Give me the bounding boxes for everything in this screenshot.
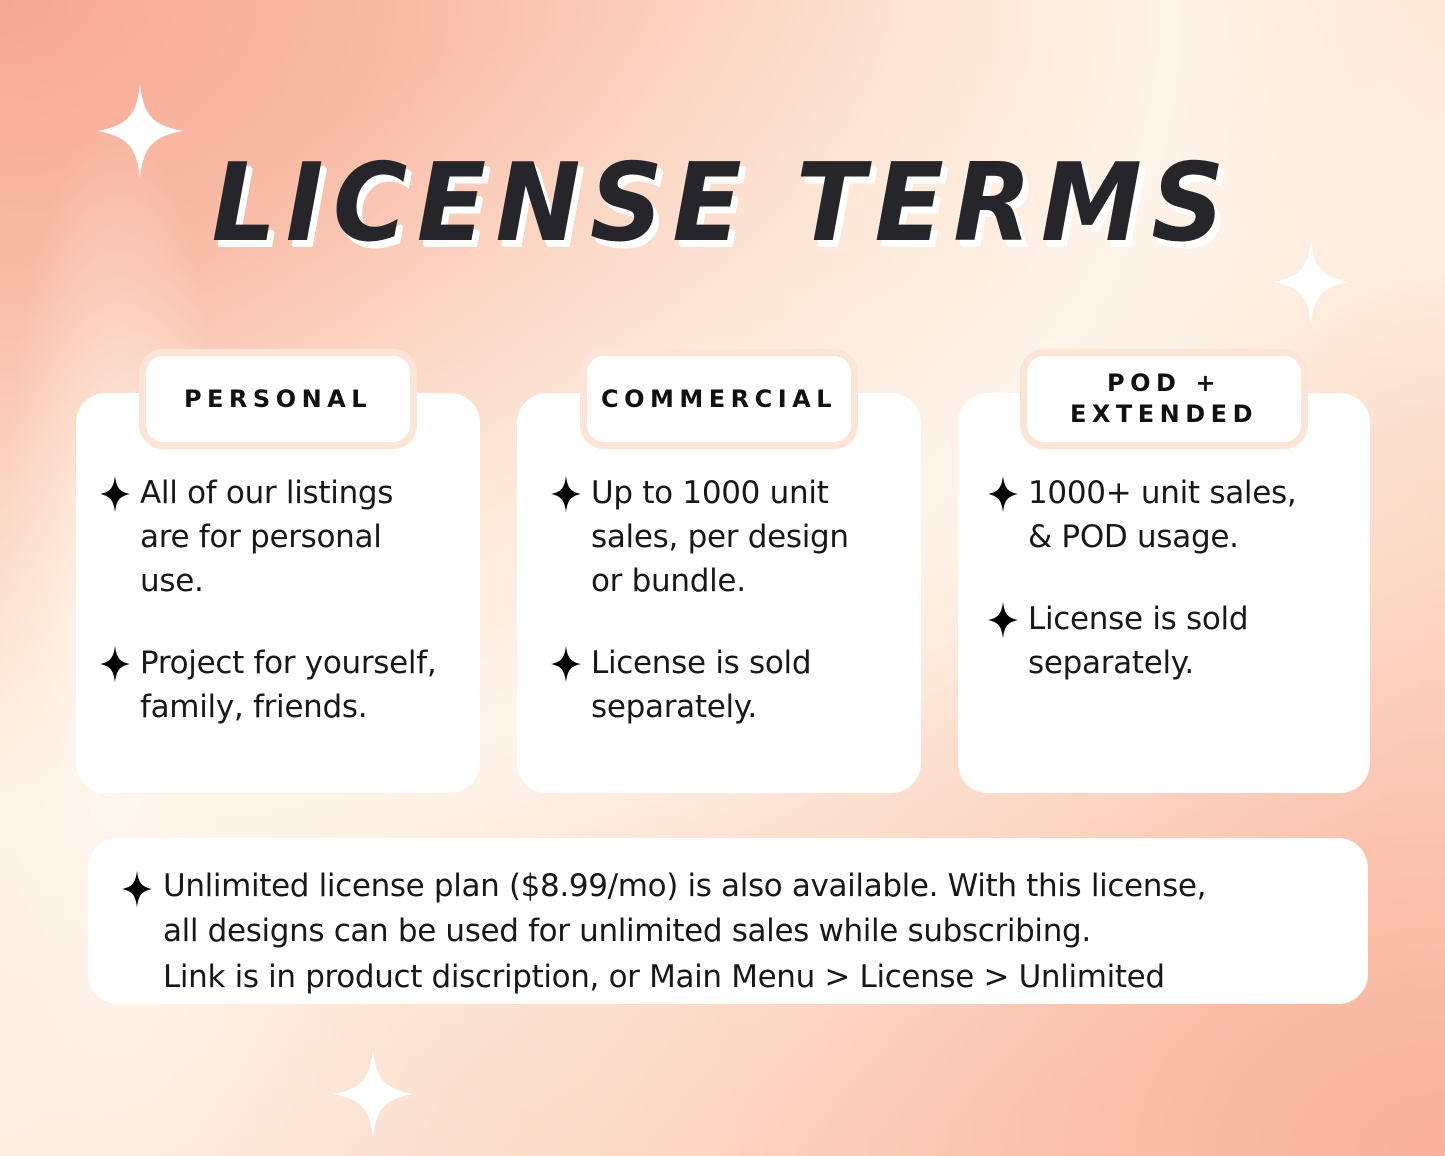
license-tier-cards: PERSONAL All of our listings are for per… [76,349,1370,793]
unlimited-license-banner: Unlimited license plan ($8.99/mo) is als… [88,838,1368,1004]
license-tier-commercial: COMMERCIAL Up to 1000 unit sales, per de… [517,349,921,793]
sparkle-bullet-icon [551,645,581,683]
list-item-text: All of our listings are for personal use… [140,471,393,603]
sparkle-bullet-icon [551,475,581,513]
tier-feature-list: All of our listings are for personal use… [100,471,464,729]
list-item-text: License is sold separately. [591,641,811,729]
tier-header-tab-pod-extended: POD + EXTENDED [1020,349,1308,449]
banner-text: Unlimited license plan ($8.99/mo) is als… [163,864,1206,1000]
sparkle-icon [332,1050,414,1138]
banner-row: Unlimited license plan ($8.99/mo) is als… [122,864,1344,1000]
tier-feature-list: Up to 1000 unit sales, per design or bun… [551,471,905,729]
list-item: Project for yourself, family, friends. [100,641,464,729]
license-tier-personal: PERSONAL All of our listings are for per… [76,349,480,793]
tier-header-tab-personal: PERSONAL [139,349,417,449]
page-title: LICENSE TERMS [211,150,1233,258]
page-title-container: LICENSE TERMS [0,150,1445,258]
list-item: All of our listings are for personal use… [100,471,464,603]
sparkle-bullet-icon [122,870,152,908]
list-item-text: Project for yourself, family, friends. [140,641,436,729]
list-item: License is sold separately. [988,597,1354,685]
list-item: License is sold separately. [551,641,905,729]
list-item-text: 1000+ unit sales, & POD usage. [1028,471,1296,559]
tier-title: COMMERCIAL [601,384,837,415]
license-tier-pod-extended: POD + EXTENDED 1000+ unit sales, & POD u… [958,349,1370,793]
tier-feature-list: 1000+ unit sales, & POD usage. License i… [988,471,1354,685]
list-item: Up to 1000 unit sales, per design or bun… [551,471,905,603]
tier-title: POD + EXTENDED [1070,368,1258,429]
tier-title: PERSONAL [184,384,372,415]
tier-header-tab-commercial: COMMERCIAL [580,349,858,449]
sparkle-bullet-icon [100,645,130,683]
list-item-text: Up to 1000 unit sales, per design or bun… [591,471,849,603]
list-item-text: License is sold separately. [1028,597,1248,685]
sparkle-bullet-icon [988,475,1018,513]
list-item: 1000+ unit sales, & POD usage. [988,471,1354,559]
sparkle-bullet-icon [988,601,1018,639]
sparkle-bullet-icon [100,475,130,513]
